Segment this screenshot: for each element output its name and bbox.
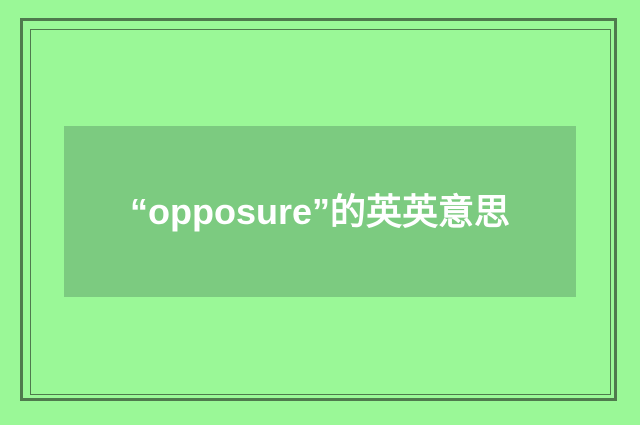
page-title: “opposure”的英英意思 (64, 183, 576, 240)
title-banner: “opposure”的英英意思 (64, 126, 576, 297)
poster-canvas: “opposure”的英英意思 (0, 0, 640, 425)
